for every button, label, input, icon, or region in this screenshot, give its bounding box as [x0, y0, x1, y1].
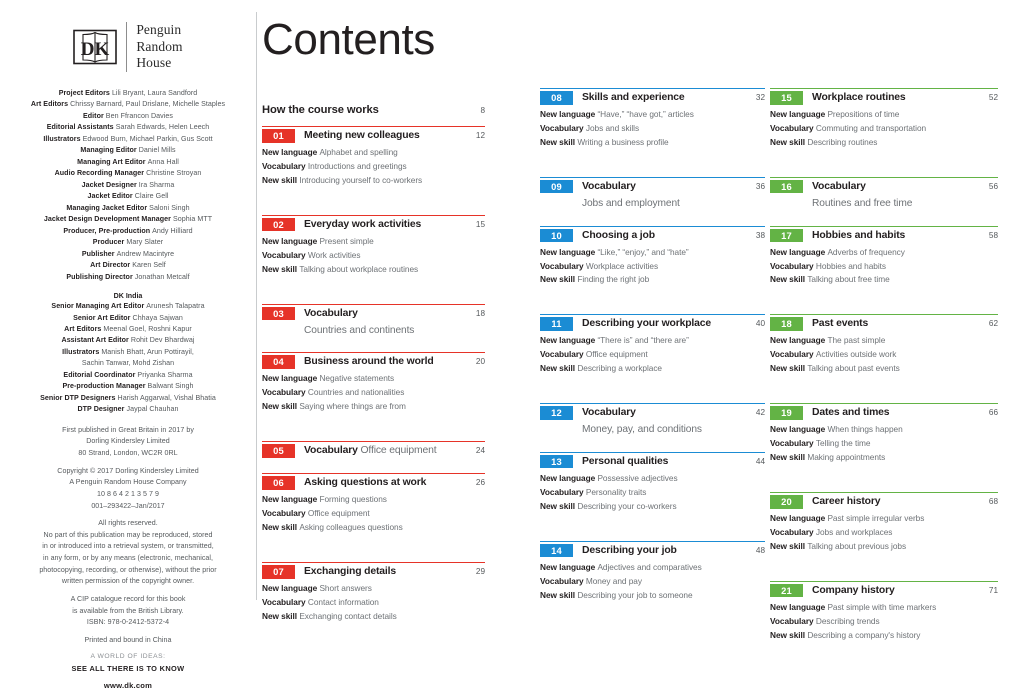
unit-detail-label: New skill	[262, 264, 299, 274]
unit-detail-value: Forming questions	[319, 494, 386, 504]
unit-detail-label: New language	[770, 424, 827, 434]
copyright-line: 001–293422–Jan/2017	[14, 501, 242, 513]
credit-role: Illustrators	[43, 135, 82, 143]
credit-line: Art Editors Meenal Goel, Roshni Kapur	[14, 324, 242, 335]
unit-detail-line: Vocabulary Commuting and transportation	[770, 122, 998, 136]
toc-unit-19[interactable]: 19Dates and times66New language When thi…	[770, 403, 998, 465]
unit-detail-list: New language “There is” and “there are”V…	[540, 334, 765, 376]
unit-header: 16Vocabulary56	[770, 177, 998, 194]
unit-page-number: 68	[985, 495, 998, 509]
credit-role: Assistant Art Editor	[62, 336, 131, 344]
unit-detail-line: New skill Talking about past events	[770, 362, 998, 376]
unit-number-badge: 14	[540, 544, 573, 558]
unit-page-number: 56	[985, 180, 998, 194]
unit-detail-label: Vocabulary	[770, 616, 816, 626]
unit-subtitle: Money, pay, and conditions	[582, 423, 765, 437]
cip-line: is available from the British Library.	[14, 606, 242, 618]
credit-names: Christine Stroyan	[146, 169, 201, 177]
toc-entry-how-the-course-works[interactable]: How the course works 8	[262, 104, 485, 116]
unit-detail-line: New language Forming questions	[262, 493, 485, 507]
unit-header: 11Describing your workplace40	[540, 314, 765, 331]
unit-detail-label: New language	[770, 513, 827, 523]
unit-detail-label: New skill	[540, 363, 577, 373]
cip-info: A CIP catalogue record for this bookis a…	[14, 594, 242, 629]
toc-unit-17[interactable]: 17Hobbies and habits58New language Adver…	[770, 226, 998, 288]
unit-detail-value: Exchanging contact details	[299, 611, 396, 621]
unit-detail-line: New language Short answers	[262, 582, 485, 596]
toc-unit-02[interactable]: 02Everyday work activities15New language…	[262, 215, 485, 277]
credit-names: Ira Sharma	[139, 181, 175, 189]
unit-detail-value: Jobs and skills	[586, 123, 639, 133]
unit-detail-line: New skill Describing a company's history	[770, 629, 998, 643]
unit-detail-line: Vocabulary Office equipment	[262, 507, 485, 521]
column-divider	[256, 12, 257, 600]
unit-spacer	[540, 521, 765, 541]
credit-names: Jaypal Chauhan	[127, 405, 179, 413]
unit-detail-value: Possessive adjectives	[597, 473, 677, 483]
unit-detail-label: Vocabulary	[262, 508, 308, 518]
unit-detail-label: New skill	[770, 363, 807, 373]
unit-detail-value: Alphabet and spelling	[319, 147, 397, 157]
credit-names: Rohit Dev Bhardwaj	[131, 336, 195, 344]
tagline-light: A WORLD OF IDEAS:	[14, 652, 242, 663]
unit-detail-line: New language “Like,” “enjoy,” and “hate”	[540, 246, 765, 260]
unit-title: Workplace routines	[803, 91, 985, 105]
unit-detail-value: Talking about free time	[807, 274, 889, 284]
unit-detail-value: Activities outside work	[816, 349, 896, 359]
credit-line: Managing Editor Daniel Mills	[14, 145, 242, 156]
unit-page-number: 12	[472, 129, 485, 143]
unit-detail-list: New language Negative statementsVocabula…	[262, 372, 485, 414]
unit-detail-value: Prepositions of time	[827, 109, 899, 119]
rights-line: photocopying, recording, or otherwise), …	[14, 565, 242, 577]
credit-line: Pre-production Manager Balwant Singh	[14, 381, 242, 392]
unit-detail-label: New skill	[540, 137, 577, 147]
dk-logo-icon: DK	[73, 29, 117, 65]
unit-detail-label: New language	[770, 335, 827, 345]
unit-spacer	[770, 472, 998, 492]
unit-detail-label: Vocabulary	[770, 438, 816, 448]
toc-unit-05[interactable]: 05Vocabulary Office equipment24	[262, 441, 485, 458]
credit-line: Senior DTP Designers Harish Aggarwal, Vi…	[14, 393, 242, 404]
credits-uk: Project Editors Lili Bryant, Laura Sandf…	[14, 88, 242, 283]
contents-column-3: 15Workplace routines52New language Prepo…	[770, 0, 998, 650]
unit-number-badge: 10	[540, 229, 573, 243]
unit-spacer	[540, 294, 765, 314]
credit-line: Illustrators Manish Bhatt, Arun Pottiray…	[14, 347, 242, 358]
unit-header: 09Vocabulary36	[540, 177, 765, 194]
toc-unit-06[interactable]: 06Asking questions at work26New language…	[262, 473, 485, 535]
credit-names: Karen Self	[132, 261, 166, 269]
credit-line: Managing Art Editor Anna Hall	[14, 157, 242, 168]
unit-page-number: 40	[752, 317, 765, 331]
unit-detail-list: New language Adverbs of frequencyVocabul…	[770, 246, 998, 288]
credit-line: Art Director Karen Self	[14, 260, 242, 271]
credit-line: Art Editors Chrissy Barnard, Paul Drisla…	[14, 99, 242, 110]
credit-role: Editorial Assistants	[47, 123, 116, 131]
publication-line: First published in Great Britain in 2017…	[14, 425, 242, 437]
unit-detail-label: Vocabulary	[770, 349, 816, 359]
unit-detail-label: Vocabulary	[262, 250, 308, 260]
credit-names: Saloni Singh	[149, 204, 189, 212]
unit-page-number: 29	[472, 565, 485, 579]
unit-detail-value: When things happen	[827, 424, 902, 434]
unit-title: Everyday work activities	[295, 218, 472, 232]
unit-title: Vocabulary	[295, 307, 472, 321]
toc-unit-18[interactable]: 18Past events62New language The past sim…	[770, 314, 998, 376]
unit-detail-value: “Like,” “enjoy,” and “hate”	[597, 247, 688, 257]
unit-page-number: 71	[985, 584, 998, 598]
credit-line: Editorial Assistants Sarah Edwards, Hele…	[14, 122, 242, 133]
credit-names: Balwant Singh	[148, 382, 194, 390]
unit-number-badge: 01	[262, 129, 295, 143]
toc-unit-03[interactable]: 03Vocabulary18Countries and continents	[262, 304, 485, 338]
unit-page-number: 42	[752, 406, 765, 420]
unit-page-number: 62	[985, 317, 998, 331]
unit-detail-line: New skill Talking about previous jobs	[770, 540, 998, 554]
unit-detail-label: New language	[262, 494, 319, 504]
unit-detail-line: Vocabulary Personality traits	[540, 486, 765, 500]
publisher-name: Penguin Random House	[126, 22, 182, 72]
unit-detail-line: Vocabulary Work activities	[262, 249, 485, 263]
unit-spacer	[540, 218, 765, 226]
rights-line: written permission of the copyright owne…	[14, 576, 242, 588]
unit-header: 13Personal qualities44	[540, 452, 765, 469]
unit-spacer	[770, 157, 998, 177]
unit-detail-label: New language	[770, 602, 827, 612]
credit-line: Assistant Art Editor Rohit Dev Bhardwaj	[14, 335, 242, 346]
unit-detail-value: Negative statements	[319, 373, 394, 383]
unit-detail-label: New language	[540, 473, 597, 483]
unit-page-number: 20	[472, 355, 485, 369]
unit-detail-label: New language	[540, 247, 597, 257]
unit-title: Vocabulary Office equipment	[295, 444, 472, 458]
unit-detail-value: Short answers	[319, 583, 371, 593]
unit-detail-line: Vocabulary Jobs and skills	[540, 122, 765, 136]
unit-spacer	[770, 383, 998, 403]
unit-detail-value: Introductions and greetings	[308, 161, 407, 171]
unit-page-number: 66	[985, 406, 998, 420]
unit-number-badge: 07	[262, 565, 295, 579]
unit-detail-value: Money and pay	[586, 576, 642, 586]
unit-detail-value: Describing your co-workers	[577, 501, 676, 511]
unit-detail-value: Commuting and transportation	[816, 123, 926, 133]
unit-detail-list: New language When things happenVocabular…	[770, 423, 998, 465]
credit-names: Arunesh Talapatra	[146, 302, 204, 310]
toc-unit-15[interactable]: 15Workplace routines52New language Prepo…	[770, 88, 998, 150]
credit-names: Andrew Macintyre	[117, 250, 175, 258]
credit-role: Editor	[83, 112, 106, 120]
credit-role: Art Editors	[64, 325, 103, 333]
unit-detail-list: New language Present simpleVocabulary Wo…	[262, 235, 485, 277]
unit-title: Past events	[803, 317, 985, 331]
credits-india: Senior Managing Art Editor Arunesh Talap…	[14, 301, 242, 416]
unit-detail-label: New language	[540, 109, 597, 119]
toc-unit-07[interactable]: 07Exchanging details29New language Short…	[262, 562, 485, 624]
publisher-logo: DK Penguin Random House	[14, 22, 242, 72]
unit-title: Personal qualities	[573, 455, 752, 469]
unit-title: Career history	[803, 495, 985, 509]
unit-detail-value: Present simple	[319, 236, 373, 246]
unit-spacer	[262, 542, 485, 562]
credit-role: Managing Art Editor	[77, 158, 148, 166]
unit-detail-line: New skill Introducing yourself to co-wor…	[262, 174, 485, 188]
toc-unit-10[interactable]: 10Choosing a job38New language “Like,” “…	[540, 226, 765, 288]
credit-names: Daniel Mills	[139, 146, 176, 154]
unit-number-badge: 21	[770, 584, 803, 598]
printed-info: Printed and bound in China	[14, 635, 242, 647]
unit-detail-list: New language Adjectives and comparatives…	[540, 561, 765, 603]
unit-detail-value: Talking about past events	[807, 363, 899, 373]
credit-names: Meenal Goel, Roshni Kapur	[103, 325, 191, 333]
toc-unit-13[interactable]: 13Personal qualities44New language Posse…	[540, 452, 765, 514]
unit-title: Vocabulary	[573, 180, 752, 194]
unit-header: 03Vocabulary18	[262, 304, 485, 321]
credit-role: Jacket Design Development Manager	[44, 215, 173, 223]
credit-line: Illustrators Edwood Burn, Michael Parkin…	[14, 134, 242, 145]
unit-subtitle: Routines and free time	[812, 197, 998, 211]
unit-subtitle: Countries and continents	[304, 324, 485, 338]
unit-detail-value: Asking colleagues questions	[299, 522, 402, 532]
unit-title: Describing your workplace	[573, 317, 752, 331]
credit-line: Senior Managing Art Editor Arunesh Talap…	[14, 301, 242, 312]
credit-names: Edwood Burn, Michael Parkin, Gus Scott	[83, 135, 213, 143]
unit-detail-line: New language Present simple	[262, 235, 485, 249]
unit-spacer	[540, 444, 765, 452]
toc-unit-12[interactable]: 12Vocabulary42Money, pay, and conditions	[540, 403, 765, 437]
unit-detail-label: New language	[540, 562, 597, 572]
unit-detail-value: Office equipment	[586, 349, 648, 359]
credit-names: Sophia MTT	[173, 215, 212, 223]
unit-page-number: 38	[752, 229, 765, 243]
unit-detail-value: The past simple	[827, 335, 885, 345]
credit-role: Jacket Designer	[82, 181, 139, 189]
unit-number-badge: 08	[540, 91, 573, 105]
unit-detail-line: New language “There is” and “there are”	[540, 334, 765, 348]
toc-unit-14[interactable]: 14Describing your job48New language Adje…	[540, 541, 765, 603]
unit-detail-list: New language Past simple with time marke…	[770, 601, 998, 643]
unit-spacer	[770, 218, 998, 226]
unit-detail-label: New language	[262, 583, 319, 593]
unit-detail-line: New skill Describing a workplace	[540, 362, 765, 376]
unit-detail-line: New language “Have,” “have got,” article…	[540, 108, 765, 122]
unit-title: Dates and times	[803, 406, 985, 420]
unit-detail-value: Personality traits	[586, 487, 646, 497]
unit-spacer	[262, 465, 485, 473]
unit-detail-label: New skill	[770, 630, 807, 640]
unit-spacer	[262, 195, 485, 215]
unit-detail-line: New skill Finding the right job	[540, 273, 765, 287]
unit-detail-label: New skill	[770, 452, 807, 462]
unit-detail-line: Vocabulary Office equipment	[540, 348, 765, 362]
unit-subtitle: Jobs and employment	[582, 197, 765, 211]
unit-detail-label: Vocabulary	[770, 527, 816, 537]
publication-line: 80 Strand, London, WC2R 0RL	[14, 448, 242, 460]
unit-detail-value: Adjectives and comparatives	[597, 562, 701, 572]
unit-detail-value: Talking about previous jobs	[807, 541, 906, 551]
unit-spacer	[540, 157, 765, 177]
rights-statement: All rights reserved.No part of this publ…	[14, 518, 242, 588]
copyright-line: 10 8 6 4 2 1 3 5 7 9	[14, 489, 242, 501]
imprint-column: DK Penguin Random House Project Editors …	[0, 0, 256, 612]
credit-role: Jacket Editor	[88, 192, 135, 200]
unit-page-number: 52	[985, 91, 998, 105]
unit-page-number: 15	[472, 218, 485, 232]
credit-names: Andy Hilliard	[152, 227, 192, 235]
credit-names: Anna Hall	[148, 158, 179, 166]
unit-number-badge: 02	[262, 218, 295, 232]
unit-spacer	[262, 284, 485, 304]
unit-detail-value: Introducing yourself to co-workers	[299, 175, 422, 185]
unit-detail-value: Work activities	[308, 250, 361, 260]
credit-line: Project Editors Lili Bryant, Laura Sandf…	[14, 88, 242, 99]
credit-role: Senior Managing Art Editor	[51, 302, 146, 310]
credit-role: Project Editors	[59, 89, 112, 97]
toc-unit-09[interactable]: 09Vocabulary36Jobs and employment	[540, 177, 765, 211]
unit-detail-line: New language Alphabet and spelling	[262, 146, 485, 160]
unit-title: Describing your job	[573, 544, 752, 558]
credit-names: Claire Gell	[135, 192, 169, 200]
unit-header: 04Business around the world20	[262, 352, 485, 369]
unit-detail-line: New language Past simple with time marke…	[770, 601, 998, 615]
unit-number-badge: 11	[540, 317, 573, 331]
unit-number-badge: 12	[540, 406, 573, 420]
tagline-bold: SEE ALL THERE IS TO KNOW	[14, 663, 242, 675]
unit-detail-list: New language Forming questionsVocabulary…	[262, 493, 485, 535]
unit-detail-label: Vocabulary	[770, 261, 816, 271]
unit-detail-value: Hobbies and habits	[816, 261, 886, 271]
unit-title: Meeting new colleagues	[295, 129, 472, 143]
credit-line: Audio Recording Manager Christine Stroya…	[14, 168, 242, 179]
unit-header: 01Meeting new colleagues12	[262, 126, 485, 143]
credit-role: Publishing Director	[66, 273, 134, 281]
unit-detail-label: Vocabulary	[262, 161, 308, 171]
unit-detail-label: New language	[770, 247, 827, 257]
credit-line: Producer Mary Slater	[14, 237, 242, 248]
unit-detail-value: Describing a company's history	[807, 630, 920, 640]
unit-title: Vocabulary	[573, 406, 752, 420]
credit-names: Harish Aggarwal, Vishal Bhatia	[118, 394, 216, 402]
unit-page-number: 48	[752, 544, 765, 558]
unit-header: 21Company history71	[770, 581, 998, 598]
credit-role: Senior Art Editor	[73, 314, 132, 322]
rights-line: No part of this publication may be repro…	[14, 530, 242, 542]
unit-header: 07Exchanging details29	[262, 562, 485, 579]
credit-line: Editorial Coordinator Priyanka Sharma	[14, 370, 242, 381]
dk-website-link[interactable]: www.dk.com	[14, 681, 242, 690]
unit-detail-value: Talking about workplace routines	[299, 264, 418, 274]
unit-detail-label: New skill	[540, 274, 577, 284]
cip-line: ISBN: 978-0-2412-5372-4	[14, 617, 242, 629]
unit-title: Skills and experience	[573, 91, 752, 105]
toc-unit-04[interactable]: 04Business around the world20New languag…	[262, 352, 485, 414]
toc-unit-16[interactable]: 16Vocabulary56Routines and free time	[770, 177, 998, 211]
credit-line: Sachin Tanwar, Mohd Zishan	[14, 358, 242, 369]
credit-names: Sachin Tanwar, Mohd Zishan	[82, 359, 174, 367]
unit-header: 14Describing your job48	[540, 541, 765, 558]
credit-names: Lili Bryant, Laura Sandford	[112, 89, 197, 97]
unit-page-number: 18	[472, 307, 485, 321]
cip-line: A CIP catalogue record for this book	[14, 594, 242, 606]
credit-role: Audio Recording Manager	[55, 169, 146, 177]
unit-detail-value: Adverbs of frequency	[827, 247, 904, 257]
unit-detail-line: New skill Saying where things are from	[262, 400, 485, 414]
unit-detail-line: New skill Asking colleagues questions	[262, 521, 485, 535]
unit-number-badge: 06	[262, 476, 295, 490]
credit-role: Senior DTP Designers	[40, 394, 117, 402]
unit-detail-value: Past simple with time markers	[827, 602, 936, 612]
credit-role: Producer, Pre-production	[63, 227, 152, 235]
unit-header: 06Asking questions at work26	[262, 473, 485, 490]
unit-detail-label: Vocabulary	[262, 597, 308, 607]
unit-detail-value: Finding the right job	[577, 274, 649, 284]
unit-detail-line: New skill Making appointments	[770, 451, 998, 465]
unit-detail-line: Vocabulary Telling the time	[770, 437, 998, 451]
unit-header: 02Everyday work activities15	[262, 215, 485, 232]
toc-unit-11[interactable]: 11Describing your workplace40New languag…	[540, 314, 765, 376]
credit-line: Editor Ben Ffrancon Davies	[14, 111, 242, 122]
unit-spacer	[262, 421, 485, 441]
unit-number-badge: 03	[262, 307, 295, 321]
credit-line: Jacket Designer Ira Sharma	[14, 180, 242, 191]
unit-number-badge: 15	[770, 91, 803, 105]
unit-detail-label: New skill	[262, 611, 299, 621]
unit-detail-label: Vocabulary	[540, 349, 586, 359]
unit-title: Business around the world	[295, 355, 472, 369]
credit-line: Jacket Editor Claire Gell	[14, 191, 242, 202]
unit-page-number: 24	[472, 444, 485, 458]
unit-detail-value: Workplace activities	[586, 261, 658, 271]
unit-detail-line: New language Negative statements	[262, 372, 485, 386]
unit-detail-label: New skill	[540, 501, 577, 511]
unit-header: 08Skills and experience32	[540, 88, 765, 105]
unit-detail-label: Vocabulary	[540, 576, 586, 586]
unit-title: Choosing a job	[573, 229, 752, 243]
unit-header: 19Dates and times66	[770, 403, 998, 420]
credit-role: DTP Designer	[78, 405, 127, 413]
toc-unit-08[interactable]: 08Skills and experience32New language “H…	[540, 88, 765, 150]
unit-detail-value: Saying where things are from	[299, 401, 406, 411]
toc-unit-20[interactable]: 20Career history68New language Past simp…	[770, 492, 998, 554]
contents-page: DK Penguin Random House Project Editors …	[0, 0, 1024, 612]
unit-number-badge: 09	[540, 180, 573, 194]
unit-detail-list: New language “Like,” “enjoy,” and “hate”…	[540, 246, 765, 288]
credit-line: Publisher Andrew Macintyre	[14, 249, 242, 260]
credit-role: Producer	[93, 238, 127, 246]
unit-detail-value: Telling the time	[816, 438, 871, 448]
credit-role: Pre-production Manager	[62, 382, 147, 390]
unit-detail-label: New language	[540, 335, 597, 345]
unit-header: 18Past events62	[770, 314, 998, 331]
unit-detail-line: New language Adjectives and comparatives	[540, 561, 765, 575]
toc-unit-01[interactable]: 01Meeting new colleagues12New language A…	[262, 126, 485, 188]
unit-header: 15Workplace routines52	[770, 88, 998, 105]
unit-detail-line: Vocabulary Countries and nationalities	[262, 386, 485, 400]
svg-text:DK: DK	[81, 39, 110, 60]
rights-line: in or introduced into a retrieval system…	[14, 541, 242, 553]
unit-title: Asking questions at work	[295, 476, 472, 490]
credit-role: Illustrators	[62, 348, 101, 356]
credit-line: Managing Jacket Editor Saloni Singh	[14, 203, 242, 214]
credit-names: Priyanka Sharma	[137, 371, 192, 379]
unit-detail-line: Vocabulary Hobbies and habits	[770, 260, 998, 274]
unit-page-number: 32	[752, 91, 765, 105]
dk-india-heading: DK India	[14, 292, 242, 300]
unit-list-blue: 08Skills and experience32New language “H…	[540, 88, 765, 603]
contents-column-1: Contents How the course works 8 01Meetin…	[262, 0, 485, 631]
contents-column-2: 08Skills and experience32New language “H…	[540, 0, 765, 610]
unit-detail-label: Vocabulary	[770, 123, 816, 133]
